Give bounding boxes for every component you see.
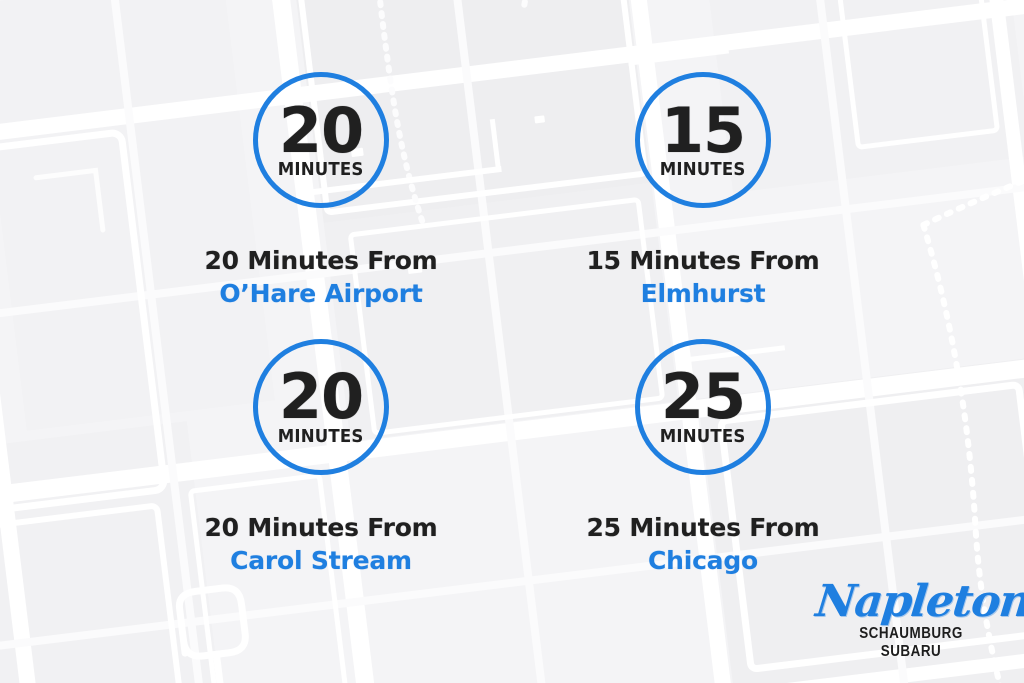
badge-number: 20	[279, 104, 363, 157]
caption-location: O’Hare Airport	[204, 279, 437, 308]
minutes-badge-circle: 20 MINUTES	[253, 72, 389, 208]
minutes-badge-circle: 15 MINUTES	[635, 72, 771, 208]
caption-location: Elmhurst	[586, 279, 819, 308]
card-caption: 20 Minutes From Carol Stream	[204, 513, 437, 575]
badge-unit-label: MINUTES	[660, 159, 746, 180]
caption-location: Chicago	[586, 546, 819, 575]
caption-primary: 20 Minutes From	[204, 513, 437, 542]
dealer-logo: Napleton’s SCHAUMBURG SUBARU	[816, 580, 1006, 661]
caption-primary: 25 Minutes From	[586, 513, 819, 542]
minutes-badge-circle: 25 MINUTES	[635, 339, 771, 475]
badge-unit-label: MINUTES	[278, 426, 364, 447]
card-caption: 25 Minutes From Chicago	[586, 513, 819, 575]
minutes-badge-circle: 20 MINUTES	[253, 339, 389, 475]
badge-number: 25	[661, 370, 745, 423]
badge-number: 20	[279, 370, 363, 423]
caption-primary: 20 Minutes From	[204, 246, 437, 275]
card-caption: 15 Minutes From Elmhurst	[586, 246, 819, 308]
promo-graphic: 20 MINUTES 20 Minutes From O’Hare Airpor…	[0, 0, 1024, 683]
caption-primary: 15 Minutes From	[586, 246, 819, 275]
badge-unit-label: MINUTES	[278, 159, 364, 180]
badge-number: 15	[661, 104, 745, 157]
drive-time-card-elmhurst: 15 MINUTES 15 Minutes From Elmhurst	[512, 72, 894, 339]
drive-time-card-ohare: 20 MINUTES 20 Minutes From O’Hare Airpor…	[130, 72, 512, 339]
dealer-logo-wordmark: Napleton’s	[814, 580, 1009, 624]
dealer-logo-subtitle: SCHAUMBURG SUBARU	[831, 625, 991, 661]
drive-time-card-carol-stream: 20 MINUTES 20 Minutes From Carol Stream	[130, 339, 512, 606]
caption-location: Carol Stream	[204, 546, 437, 575]
badge-unit-label: MINUTES	[660, 426, 746, 447]
drive-time-card-chicago: 25 MINUTES 25 Minutes From Chicago	[512, 339, 894, 606]
card-caption: 20 Minutes From O’Hare Airport	[204, 246, 437, 308]
